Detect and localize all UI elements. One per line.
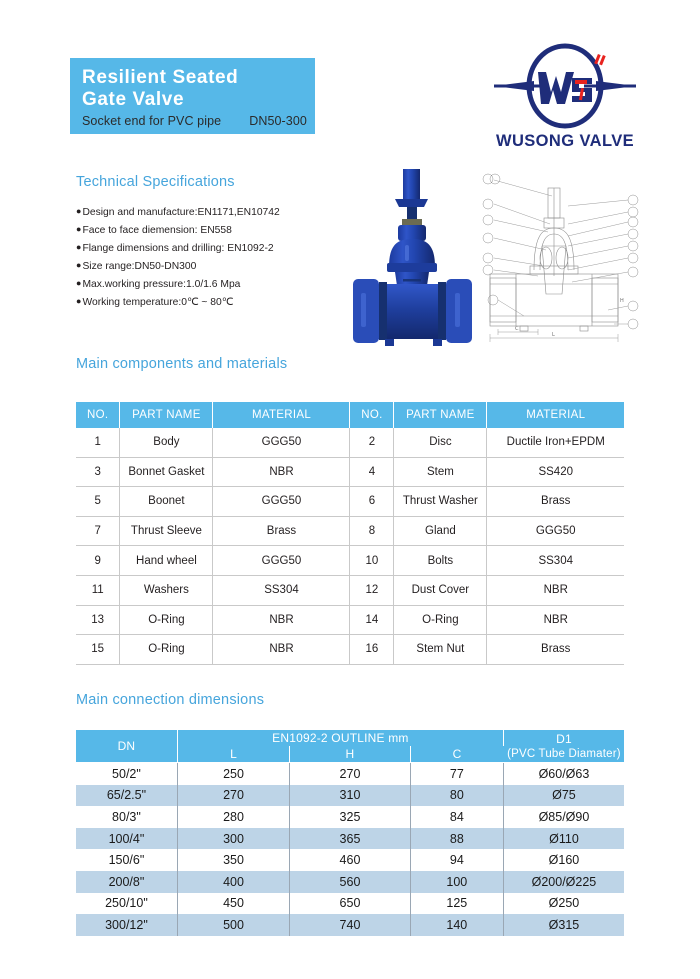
valve-technical-drawing: L C H [468, 166, 640, 350]
cell-partname: Disc [394, 428, 487, 457]
cell-partname: Stem Nut [394, 635, 487, 665]
cell-material: SS420 [487, 457, 624, 487]
table-row: 150/6" 350 460 94 Ø160 [76, 849, 624, 871]
bullet-icon: ● [76, 296, 81, 306]
cell-material: SS304 [213, 575, 350, 605]
table-row: 80/3" 280 325 84 Ø85/Ø90 [76, 806, 624, 828]
cell-partname: Thrust Sleeve [120, 516, 213, 546]
cell-d1: Ø85/Ø90 [503, 806, 624, 828]
cell-no: 5 [76, 487, 120, 517]
cell-d1: Ø110 [503, 828, 624, 850]
cell-no: 11 [76, 575, 120, 605]
main-components-heading: Main components and materials [76, 356, 287, 372]
table-row: 5 Boonet GGG50 6 Thrust Washer Brass [76, 487, 624, 517]
cell-d1: Ø60/Ø63 [503, 763, 624, 785]
table-row: 3 Bonnet Gasket NBR 4 Stem SS420 [76, 457, 624, 487]
cell-material: GGG50 [213, 428, 350, 457]
technical-specifications-heading: Technical Specifications [76, 174, 235, 190]
cell-h: 460 [290, 849, 411, 871]
col-header-d1: D1 (PVC Tube Diamater) [503, 730, 624, 763]
spec-item-text: Design and manufacture:EN1171,EN10742 [82, 207, 279, 218]
col-header-material-1: MATERIAL [213, 402, 350, 428]
table-row: 200/8" 400 560 100 Ø200/Ø225 [76, 871, 624, 893]
table-row: 7 Thrust Sleeve Brass 8 Gland GGG50 [76, 516, 624, 546]
spec-item: ●Working temperature:0℃ ~ 80℃ [76, 293, 366, 311]
cell-d1: Ø75 [503, 785, 624, 807]
col-header-no-1: NO. [76, 402, 120, 428]
bullet-icon: ● [76, 260, 81, 270]
cell-no: 10 [350, 546, 394, 576]
cell-material: GGG50 [487, 516, 624, 546]
spec-item: ●Max.working pressure:1.0/1.6 Mpa [76, 275, 366, 293]
cell-dn: 300/12" [76, 914, 177, 936]
cell-dn: 250/10" [76, 893, 177, 915]
cell-l: 450 [177, 893, 289, 915]
cell-dn: 100/4" [76, 828, 177, 850]
bullet-icon: ● [76, 224, 81, 234]
dimension-label-c: C [515, 326, 519, 332]
cell-partname: Bolts [394, 546, 487, 576]
table-header-row: NO. PART NAME MATERIAL NO. PART NAME MAT… [76, 402, 624, 428]
spec-item: ●Face to face diemension: EN558 [76, 221, 366, 239]
cell-c: 94 [410, 849, 503, 871]
spec-item-text: Flange dimensions and drilling: EN1092-2 [82, 243, 273, 254]
cell-no: 14 [350, 605, 394, 635]
cell-d1: Ø250 [503, 893, 624, 915]
bullet-icon: ● [76, 278, 81, 288]
cell-dn: 200/8" [76, 871, 177, 893]
cell-no: 8 [350, 516, 394, 546]
spec-item-text: Working temperature:0℃ ~ 80℃ [82, 297, 233, 308]
cell-d1: Ø160 [503, 849, 624, 871]
cell-no: 6 [350, 487, 394, 517]
bullet-icon: ● [76, 242, 81, 252]
cell-no: 3 [76, 457, 120, 487]
cell-l: 250 [177, 763, 289, 785]
cell-material: NBR [213, 605, 350, 635]
col-header-material-2: MATERIAL [487, 402, 624, 428]
cell-partname: O-Ring [394, 605, 487, 635]
cell-dn: 80/3" [76, 806, 177, 828]
col-header-h: H [290, 746, 411, 763]
cell-partname: Stem [394, 457, 487, 487]
spec-item-text: Face to face diemension: EN558 [82, 225, 231, 236]
cell-material: GGG50 [213, 487, 350, 517]
dimension-label-h: H [620, 298, 624, 304]
spec-item-text: Max.working pressure:1.0/1.6 Mpa [82, 279, 240, 290]
table-row: 65/2.5" 270 310 80 Ø75 [76, 785, 624, 807]
cell-no: 9 [76, 546, 120, 576]
cell-material: GGG50 [213, 546, 350, 576]
brand-name: WUSONG VALVE [480, 132, 650, 151]
col-header-partname-1: PART NAME [120, 402, 213, 428]
cell-partname: Boonet [120, 487, 213, 517]
col-header-dn: DN [76, 730, 177, 763]
main-connection-dimensions-table: DN EN1092-2 OUTLINE mm D1 (PVC Tube Diam… [76, 730, 624, 936]
cell-dn: 150/6" [76, 849, 177, 871]
title-banner: Resilient Seated Gate Valve Socket end f… [70, 58, 315, 134]
cell-dn: 50/2" [76, 763, 177, 785]
cell-dn: 65/2.5" [76, 785, 177, 807]
table-row: 250/10" 450 650 125 Ø250 [76, 893, 624, 915]
cell-no: 4 [350, 457, 394, 487]
cell-d1: Ø315 [503, 914, 624, 936]
cell-h: 650 [290, 893, 411, 915]
subtitle-row: Socket end for PVC pipe DN50-300 [82, 114, 315, 128]
cell-l: 300 [177, 828, 289, 850]
cell-l: 350 [177, 849, 289, 871]
bullet-icon: ● [76, 206, 81, 216]
spec-item: ●Design and manufacture:EN1171,EN10742 [76, 203, 366, 221]
cell-material: NBR [213, 457, 350, 487]
cell-c: 84 [410, 806, 503, 828]
cell-no: 12 [350, 575, 394, 605]
product-title-line2: Gate Valve [82, 89, 315, 111]
cell-c: 77 [410, 763, 503, 785]
cell-partname: Gland [394, 516, 487, 546]
cell-h: 365 [290, 828, 411, 850]
cell-partname: Washers [120, 575, 213, 605]
table-row: 13 O-Ring NBR 14 O-Ring NBR [76, 605, 624, 635]
cell-partname: Dust Cover [394, 575, 487, 605]
cell-material: NBR [487, 605, 624, 635]
cell-material: SS304 [487, 546, 624, 576]
cell-partname: Thrust Washer [394, 487, 487, 517]
cell-l: 270 [177, 785, 289, 807]
cell-partname: Hand wheel [120, 546, 213, 576]
col-header-d1-main: D1 [505, 732, 623, 747]
cell-partname: O-Ring [120, 605, 213, 635]
cell-no: 1 [76, 428, 120, 457]
cell-l: 500 [177, 914, 289, 936]
product-title-line1: Resilient Seated [82, 67, 315, 89]
table-row: 15 O-Ring NBR 16 Stem Nut Brass [76, 635, 624, 665]
cell-h: 325 [290, 806, 411, 828]
spec-item: ●Flange dimensions and drilling: EN1092-… [76, 239, 366, 257]
cell-material: NBR [487, 575, 624, 605]
cell-partname: Body [120, 428, 213, 457]
company-logo: WUSONG VALVE [480, 42, 650, 151]
cell-partname: Bonnet Gasket [120, 457, 213, 487]
spec-item-text: Size range:DN50-DN300 [82, 261, 196, 272]
table-row: 11 Washers SS304 12 Dust Cover NBR [76, 575, 624, 605]
col-header-outline-group: EN1092-2 OUTLINE mm [177, 730, 503, 746]
col-header-partname-2: PART NAME [394, 402, 487, 428]
cell-no: 16 [350, 635, 394, 665]
table-row: 50/2" 250 270 77 Ø60/Ø63 [76, 763, 624, 785]
cell-c: 140 [410, 914, 503, 936]
main-connection-dimensions-heading: Main connection dimensions [76, 692, 264, 708]
cell-c: 88 [410, 828, 503, 850]
cell-material: Ductile Iron+EPDM [487, 428, 624, 457]
cell-h: 560 [290, 871, 411, 893]
spec-item: ●Size range:DN50-DN300 [76, 257, 366, 275]
table-row: 100/4" 300 365 88 Ø110 [76, 828, 624, 850]
cell-d1: Ø200/Ø225 [503, 871, 624, 893]
cell-material: Brass [213, 516, 350, 546]
cell-c: 80 [410, 785, 503, 807]
cell-no: 13 [76, 605, 120, 635]
cell-c: 125 [410, 893, 503, 915]
table-header-row-top: DN EN1092-2 OUTLINE mm D1 (PVC Tube Diam… [76, 730, 624, 746]
valve-product-photo [345, 163, 480, 355]
cell-material: NBR [213, 635, 350, 665]
col-header-no-2: NO. [350, 402, 394, 428]
cell-no: 15 [76, 635, 120, 665]
cell-no: 2 [350, 428, 394, 457]
cell-material: Brass [487, 487, 624, 517]
table-row: 300/12" 500 740 140 Ø315 [76, 914, 624, 936]
cell-partname: O-Ring [120, 635, 213, 665]
wusong-logo-icon [480, 42, 650, 130]
col-header-c: C [410, 746, 503, 763]
cell-h: 270 [290, 763, 411, 785]
cell-l: 400 [177, 871, 289, 893]
table-row: 9 Hand wheel GGG50 10 Bolts SS304 [76, 546, 624, 576]
col-header-d1-sub: (PVC Tube Diamater) [505, 747, 623, 761]
dimension-label-l: L [552, 332, 555, 338]
cell-h: 310 [290, 785, 411, 807]
cell-h: 740 [290, 914, 411, 936]
page-header: Resilient Seated Gate Valve Socket end f… [0, 0, 700, 160]
cell-no: 7 [76, 516, 120, 546]
main-components-table: NO. PART NAME MATERIAL NO. PART NAME MAT… [76, 402, 624, 665]
product-size-range: DN50-300 [249, 114, 307, 128]
col-header-l: L [177, 746, 289, 763]
cell-l: 280 [177, 806, 289, 828]
cell-material: Brass [487, 635, 624, 665]
product-subtitle: Socket end for PVC pipe [82, 114, 221, 128]
technical-specifications-list: ●Design and manufacture:EN1171,EN10742 ●… [76, 203, 366, 311]
table-row: 1 Body GGG50 2 Disc Ductile Iron+EPDM [76, 428, 624, 457]
cell-c: 100 [410, 871, 503, 893]
